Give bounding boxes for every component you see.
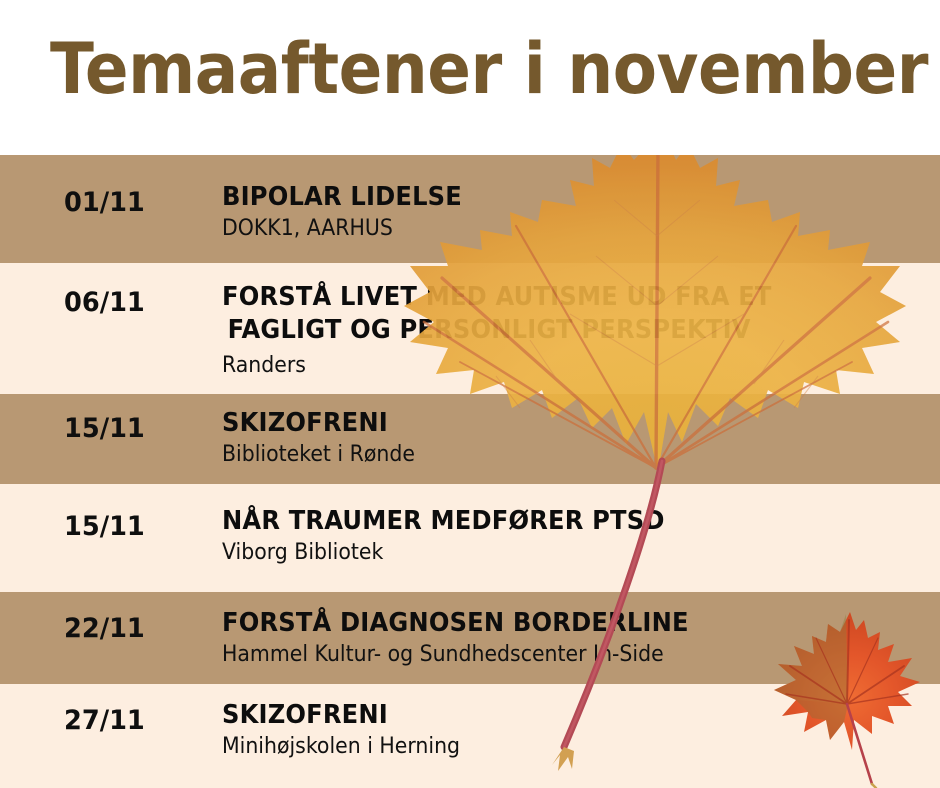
event-heading-line-2: FAGLIGT OG PERSONLIGT PERSPEKTIV [222, 314, 880, 347]
event-row: 01/11 BIPOLAR LIDELSE DOKK1, AARHUS [0, 155, 940, 263]
event-heading: SKIZOFRENI [222, 407, 880, 440]
event-row: 06/11 FORSTÅ LIVET MED AUTISME UD FRA ET… [0, 263, 940, 394]
event-date: 15/11 [64, 512, 145, 542]
event-venue: DOKK1, AARHUS [222, 214, 880, 244]
event-heading: BIPOLAR LIDELSE [222, 181, 880, 214]
event-date: 22/11 [64, 614, 145, 644]
poster-canvas: 01/11 BIPOLAR LIDELSE DOKK1, AARHUS 06/1… [0, 0, 940, 788]
event-venue: Minihøjskolen i Herning [222, 732, 880, 762]
event-date: 01/11 [64, 188, 145, 218]
event-body: SKIZOFRENI Minihøjskolen i Herning [222, 699, 930, 762]
event-body: FORSTÅ LIVET MED AUTISME UD FRA ET FAGLI… [222, 281, 930, 381]
event-venue: Randers [222, 347, 880, 381]
event-heading-line-1: FORSTÅ LIVET MED AUTISME UD FRA ET [222, 281, 880, 314]
event-body: SKIZOFRENI Biblioteket i Rønde [222, 407, 930, 470]
event-heading: SKIZOFRENI [222, 699, 880, 732]
event-body: BIPOLAR LIDELSE DOKK1, AARHUS [222, 181, 930, 244]
event-venue: Biblioteket i Rønde [222, 440, 880, 470]
event-row: 27/11 SKIZOFRENI Minihøjskolen i Herning [0, 684, 940, 788]
event-body: NÅR TRAUMER MEDFØRER PTSD Viborg Bibliot… [222, 505, 930, 568]
event-date: 06/11 [64, 288, 145, 318]
event-row: 22/11 FORSTÅ DIAGNOSEN BORDERLINE Hammel… [0, 592, 940, 684]
event-row: 15/11 NÅR TRAUMER MEDFØRER PTSD Viborg B… [0, 484, 940, 592]
event-row: 15/11 SKIZOFRENI Biblioteket i Rønde [0, 394, 940, 484]
event-heading: NÅR TRAUMER MEDFØRER PTSD [222, 505, 880, 538]
event-date: 15/11 [64, 414, 145, 444]
event-venue: Viborg Bibliotek [222, 538, 880, 568]
event-date: 27/11 [64, 706, 145, 736]
page-title: Temaaftener i november [50, 28, 928, 110]
event-venue: Hammel Kultur- og Sundhedscenter In-Side [222, 640, 880, 670]
event-body: FORSTÅ DIAGNOSEN BORDERLINE Hammel Kultu… [222, 607, 930, 670]
title-band: Temaaftener i november [0, 0, 940, 155]
event-heading: FORSTÅ DIAGNOSEN BORDERLINE [222, 607, 880, 640]
